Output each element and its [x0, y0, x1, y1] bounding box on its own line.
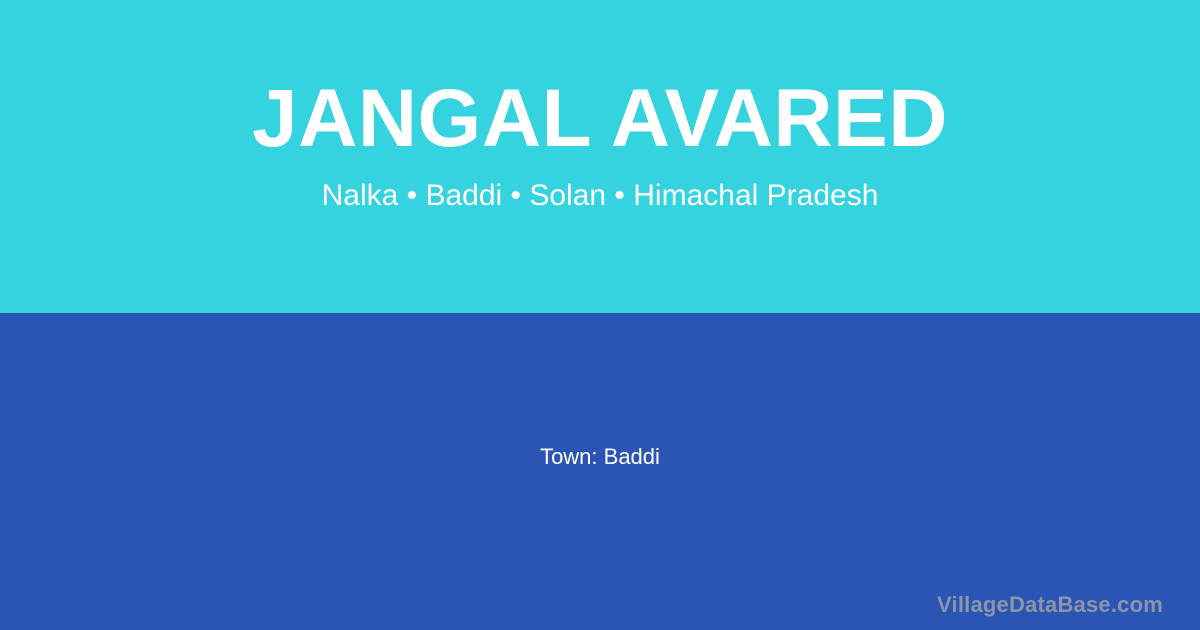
- breadcrumb: Nalka • Baddi • Solan • Himachal Pradesh: [322, 178, 879, 214]
- site-watermark: VillageDataBase.com: [937, 593, 1163, 617]
- detail-band: Town: Baddi VillageDataBase.com: [0, 313, 1200, 630]
- page-title: JANGAL AVARED: [252, 78, 948, 160]
- town-detail-line: Town: Baddi: [540, 443, 660, 472]
- village-info-card: JANGAL AVARED Nalka • Baddi • Solan • Hi…: [0, 0, 1200, 630]
- hero-band: JANGAL AVARED Nalka • Baddi • Solan • Hi…: [0, 0, 1200, 313]
- detail-stack: Town: Baddi: [540, 443, 660, 472]
